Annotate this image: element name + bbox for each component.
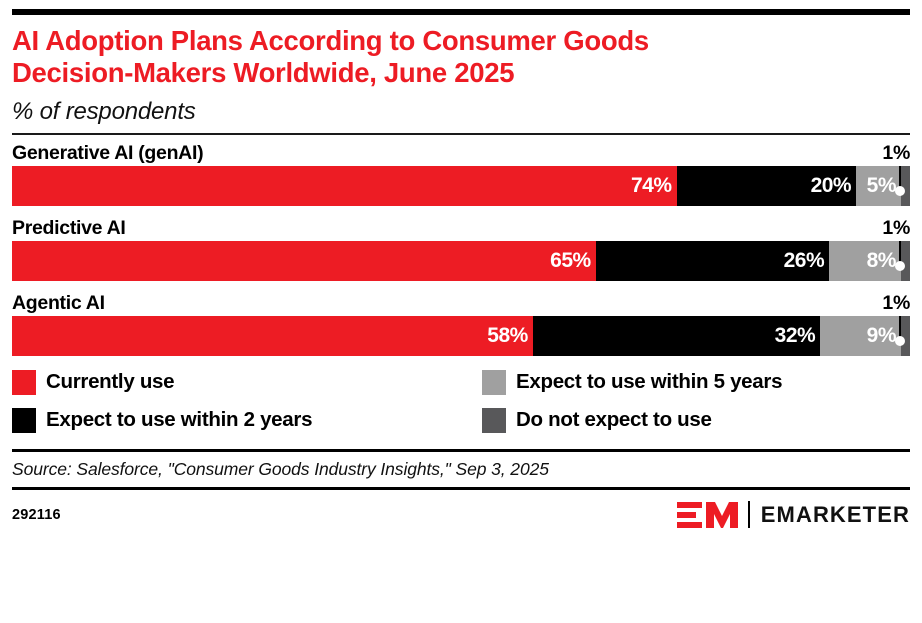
bar-segment[interactable]: 5% — [856, 166, 901, 206]
legend-item[interactable]: Currently use — [12, 370, 482, 395]
bar-segment-value: 9% — [867, 324, 896, 348]
callout-leader-dot — [895, 336, 905, 346]
stacked-bar: 58%32%9% — [12, 316, 910, 356]
legend-item-label: Do not expect to use — [516, 408, 712, 432]
bar-category-label: Generative AI (genAI) — [12, 142, 203, 165]
chart-page: AI Adoption Plans According to Consumer … — [0, 9, 922, 623]
stacked-bar-chart: Generative AI (genAI)1%74%20%5%Predictiv… — [12, 139, 910, 356]
legend-item[interactable]: Expect to use within 5 years — [482, 370, 910, 395]
emarketer-brand: EMARKETER — [677, 500, 910, 530]
bar-segment-value: 58% — [487, 324, 528, 348]
bar-segment[interactable]: 20% — [677, 166, 857, 206]
bar-category-label: Agentic AI — [12, 292, 105, 315]
header-divider — [12, 133, 910, 135]
bar-header-row: Generative AI (genAI)1% — [12, 139, 910, 166]
page-subtitle: % of respondents — [12, 98, 910, 126]
chart-legend: Currently useExpect to use within 5 year… — [12, 370, 910, 433]
bar-segment-value: 20% — [811, 174, 852, 198]
bar-segment[interactable]: 58% — [12, 316, 533, 356]
bar-group: Predictive AI1%65%26%8% — [12, 214, 910, 281]
bar-callout-label: 1% — [882, 217, 910, 240]
bar-header-row: Predictive AI1% — [12, 214, 910, 241]
bar-segment[interactable]: 65% — [12, 241, 596, 281]
legend-swatch-icon — [482, 408, 506, 433]
bar-segment-value: 26% — [784, 249, 825, 273]
bar-group: Generative AI (genAI)1%74%20%5% — [12, 139, 910, 206]
top-rule — [12, 9, 910, 15]
bar-segment[interactable]: 74% — [12, 166, 677, 206]
bar-callout-label: 1% — [882, 142, 910, 165]
bar-segment-value: 65% — [550, 249, 591, 273]
legend-swatch-icon — [482, 370, 506, 395]
page-title: AI Adoption Plans According to Consumer … — [12, 25, 910, 90]
source-section: Source: Salesforce, "Consumer Goods Indu… — [12, 449, 910, 490]
bar-segment-value: 8% — [867, 249, 896, 273]
bar-header-row: Agentic AI1% — [12, 289, 910, 316]
stacked-bar: 65%26%8% — [12, 241, 910, 281]
bar-group: Agentic AI1%58%32%9% — [12, 289, 910, 356]
bar-segment[interactable]: 32% — [533, 316, 820, 356]
legend-item[interactable]: Do not expect to use — [482, 408, 910, 433]
callout-leader-dot — [895, 261, 905, 271]
legend-item-label: Currently use — [46, 370, 174, 394]
em-logo-icon — [677, 500, 739, 530]
bar-segment[interactable]: 8% — [829, 241, 901, 281]
chart-id: 292116 — [12, 507, 61, 523]
stacked-bar: 74%20%5% — [12, 166, 910, 206]
legend-item[interactable]: Expect to use within 2 years — [12, 408, 482, 433]
bar-category-label: Predictive AI — [12, 217, 126, 240]
bar-segment-value: 74% — [631, 174, 672, 198]
page-footer: 292116 EMARKETER — [12, 490, 910, 530]
legend-item-label: Expect to use within 5 years — [516, 370, 782, 394]
bar-segment-value: 32% — [775, 324, 816, 348]
bar-segment[interactable]: 26% — [596, 241, 829, 281]
legend-swatch-icon — [12, 408, 36, 433]
source-note: Source: Salesforce, "Consumer Goods Indu… — [12, 452, 910, 487]
legend-item-label: Expect to use within 2 years — [46, 408, 312, 432]
brand-divider — [748, 501, 750, 528]
bar-segment-value: 5% — [867, 174, 896, 198]
brand-name: EMARKETER — [761, 502, 910, 528]
bar-callout-label: 1% — [882, 292, 910, 315]
bar-segment[interactable]: 9% — [820, 316, 901, 356]
legend-swatch-icon — [12, 370, 36, 395]
callout-leader-dot — [895, 186, 905, 196]
